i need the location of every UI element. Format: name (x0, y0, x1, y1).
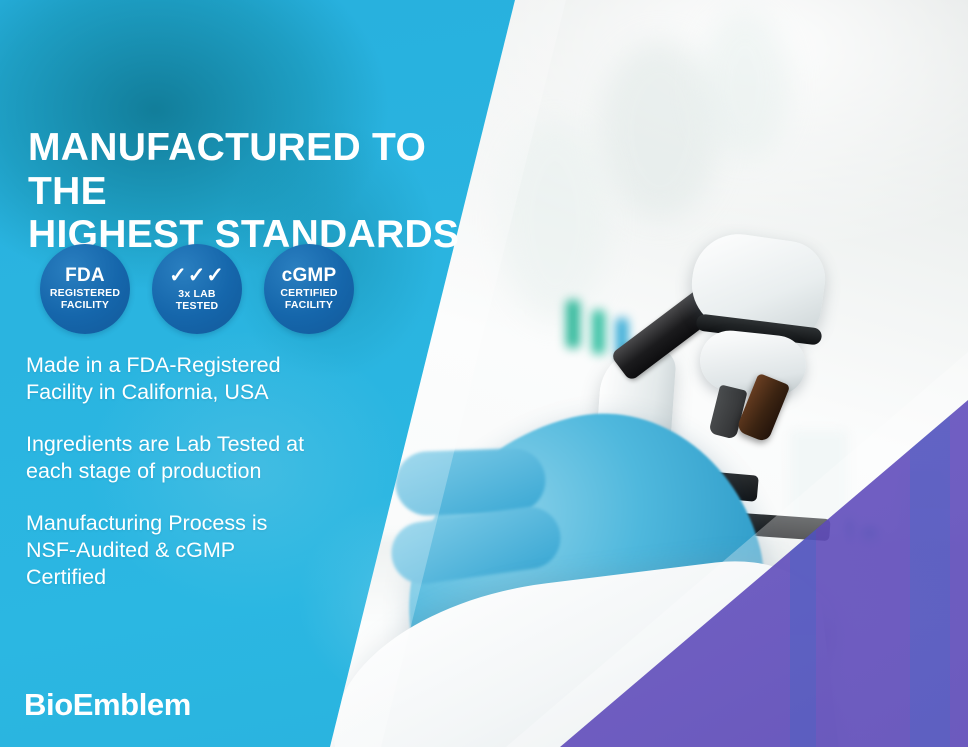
benefit-1-line-2: Facility in California, USA (26, 379, 426, 406)
background-glassware-blur (700, 10, 790, 160)
benefit-3-line-2: NSF-Audited & cGMP (26, 537, 426, 564)
benefit-item-lab-tested: Ingredients are Lab Tested at each stage… (26, 431, 426, 485)
content-column: MANUFACTURED TO THE HIGHEST STANDARDS FD… (0, 0, 515, 747)
marketing-banner: MANUFACTURED TO THE HIGHEST STANDARDS FD… (0, 0, 968, 747)
badge-lab-tested-subtitle: 3x LAB TESTED (176, 289, 219, 313)
benefit-2-line-2: each stage of production (26, 458, 426, 485)
benefit-item-nsf-cgmp: Manufacturing Process is NSF-Audited & c… (26, 510, 426, 591)
headline-line-1: MANUFACTURED TO THE (28, 126, 426, 213)
badge-cgmp-certified-facility: cGMP CERTIFIED FACILITY (264, 244, 354, 334)
brand-logo: BioEmblem (24, 687, 191, 723)
badge-lab-tested-subtitle-line-2: TESTED (176, 301, 219, 313)
benefit-1-line-1: Made in a FDA-Registered (26, 352, 426, 379)
badge-cgmp-subtitle-line-2: FACILITY (280, 300, 337, 312)
benefit-list: Made in a FDA-Registered Facility in Cal… (26, 352, 426, 617)
badge-cgmp-title: cGMP (282, 266, 337, 285)
page-title: MANUFACTURED TO THE HIGHEST STANDARDS (28, 126, 498, 257)
benefit-3-line-3: Certified (26, 564, 426, 591)
badge-fda-title: FDA (65, 266, 105, 285)
badge-fda-subtitle-line-1: REGISTERED (50, 287, 120, 299)
badge-lab-tested-subtitle-line-1: 3x LAB (178, 288, 215, 300)
benefit-2-line-1: Ingredients are Lab Tested at (26, 431, 426, 458)
badge-fda-subtitle-line-2: FACILITY (50, 300, 120, 312)
badge-3x-lab-tested: ✓✓✓ 3x LAB TESTED (152, 244, 242, 334)
benefit-3-line-1: Manufacturing Process is (26, 510, 426, 537)
certification-badge-group: FDA REGISTERED FACILITY ✓✓✓ 3x LAB TESTE… (40, 244, 354, 334)
badge-fda-subtitle: REGISTERED FACILITY (50, 288, 120, 312)
badge-cgmp-subtitle: CERTIFIED FACILITY (280, 288, 337, 312)
badge-cgmp-subtitle-line-1: CERTIFIED (280, 287, 337, 299)
triple-checkmark-icon: ✓✓✓ (169, 265, 225, 286)
badge-fda-registered-facility: FDA REGISTERED FACILITY (40, 244, 130, 334)
benefit-item-fda-facility: Made in a FDA-Registered Facility in Cal… (26, 352, 426, 406)
